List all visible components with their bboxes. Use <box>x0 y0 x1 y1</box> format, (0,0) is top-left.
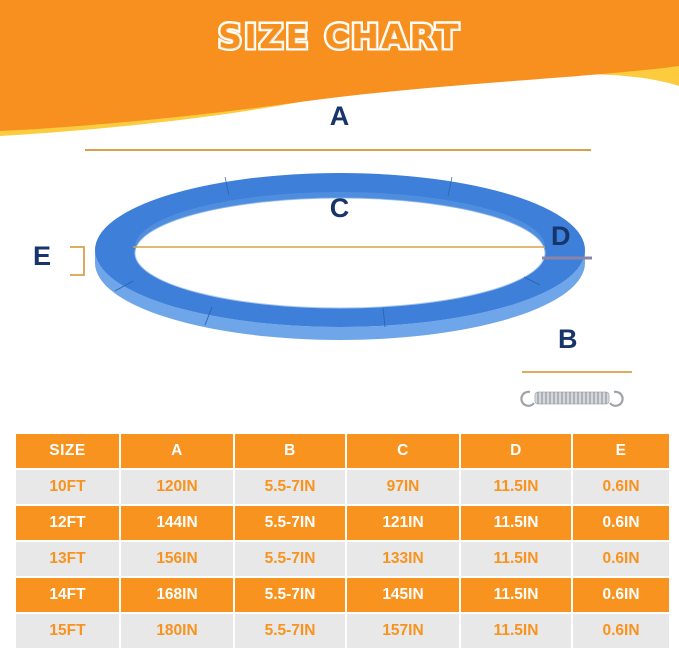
dimension-label-c: C <box>0 195 679 222</box>
dimension-label-e: E <box>33 243 51 270</box>
cell-d: 11.5IN <box>461 614 571 648</box>
cell-e: 0.6IN <box>573 506 669 540</box>
cell-e: 0.6IN <box>573 578 669 612</box>
trampoline-diagram-graphic <box>0 95 679 425</box>
cell-d: 11.5IN <box>461 470 571 504</box>
table-row: 10FT 120IN 5.5-7IN 97IN 11.5IN 0.6IN <box>16 470 669 504</box>
cell-a: 144IN <box>121 506 233 540</box>
cell-d: 11.5IN <box>461 578 571 612</box>
column-header-size: SIZE <box>16 434 119 468</box>
cell-b: 5.5-7IN <box>235 506 345 540</box>
spring-hook-right <box>610 392 623 406</box>
cell-size: 14FT <box>16 578 119 612</box>
cell-size: 12FT <box>16 506 119 540</box>
cell-a: 180IN <box>121 614 233 648</box>
dimension-bracket-e <box>70 247 84 275</box>
column-header-e: E <box>573 434 669 468</box>
column-header-d: D <box>461 434 571 468</box>
cell-b: 5.5-7IN <box>235 614 345 648</box>
cell-d: 11.5IN <box>461 542 571 576</box>
size-chart-page: SIZE CHART <box>0 0 679 666</box>
column-header-c: C <box>347 434 459 468</box>
size-table-header: SIZE A B C D E <box>16 434 669 468</box>
trampoline-spring <box>521 392 622 406</box>
spring-hook-left <box>521 392 534 406</box>
trampoline-illustration: A C D E B <box>0 95 679 425</box>
cell-c: 145IN <box>347 578 459 612</box>
cell-c: 157IN <box>347 614 459 648</box>
cell-b: 5.5-7IN <box>235 470 345 504</box>
table-row: 14FT 168IN 5.5-7IN 145IN 11.5IN 0.6IN <box>16 578 669 612</box>
page-title-wrap: SIZE CHART <box>0 17 679 56</box>
page-title: SIZE CHART <box>218 17 461 56</box>
cell-e: 0.6IN <box>573 542 669 576</box>
column-header-a: A <box>121 434 233 468</box>
cell-d: 11.5IN <box>461 506 571 540</box>
cell-size: 13FT <box>16 542 119 576</box>
cell-e: 0.6IN <box>573 470 669 504</box>
dimension-label-a: A <box>0 103 679 130</box>
cell-size: 10FT <box>16 470 119 504</box>
size-table: SIZE A B C D E 10FT 120IN 5.5-7IN 97IN 1… <box>14 432 671 650</box>
cell-b: 5.5-7IN <box>235 542 345 576</box>
dimension-label-b: B <box>558 326 578 353</box>
cell-c: 121IN <box>347 506 459 540</box>
table-row: 12FT 144IN 5.5-7IN 121IN 11.5IN 0.6IN <box>16 506 669 540</box>
cell-e: 0.6IN <box>573 614 669 648</box>
cell-a: 120IN <box>121 470 233 504</box>
size-table-body: 10FT 120IN 5.5-7IN 97IN 11.5IN 0.6IN 12F… <box>16 470 669 648</box>
cell-c: 97IN <box>347 470 459 504</box>
table-row: 15FT 180IN 5.5-7IN 157IN 11.5IN 0.6IN <box>16 614 669 648</box>
table-row: 13FT 156IN 5.5-7IN 133IN 11.5IN 0.6IN <box>16 542 669 576</box>
dimension-label-d: D <box>551 223 571 250</box>
cell-c: 133IN <box>347 542 459 576</box>
cell-b: 5.5-7IN <box>235 578 345 612</box>
cell-a: 168IN <box>121 578 233 612</box>
cell-a: 156IN <box>121 542 233 576</box>
table-header-row: SIZE A B C D E <box>16 434 669 468</box>
cell-size: 15FT <box>16 614 119 648</box>
column-header-b: B <box>235 434 345 468</box>
